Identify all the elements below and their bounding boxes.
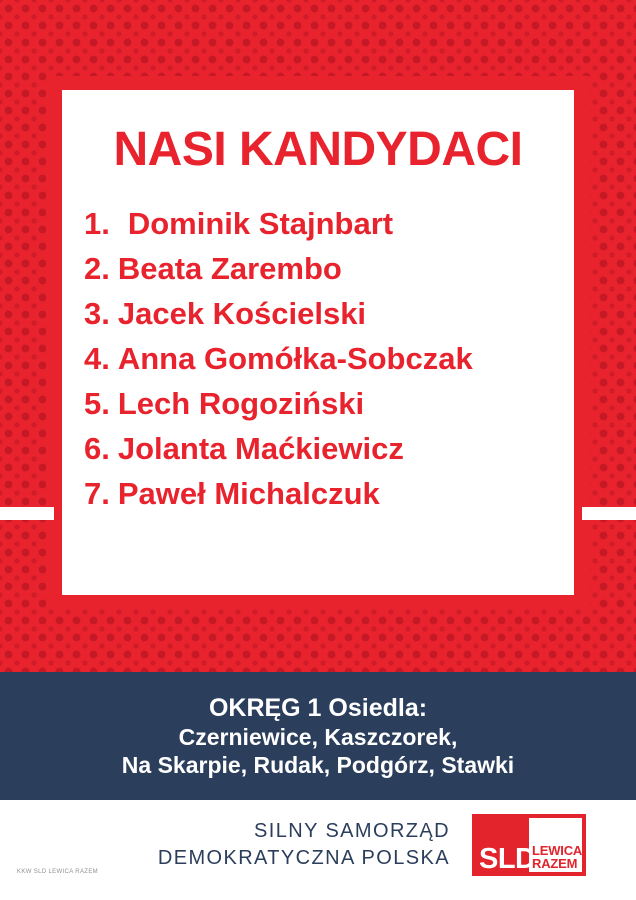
candidate-item: 5. Lech Rogoziński [84, 388, 564, 433]
candidate-number: 3. [84, 298, 110, 329]
candidate-item: 6. Jolanta Maćkiewicz [84, 433, 564, 478]
candidate-item: 7. Paweł Michalczuk [84, 478, 564, 523]
candidate-item: 3. Jacek Kościelski [84, 298, 564, 343]
candidate-number: 2. [84, 253, 110, 284]
district-title: OKRĘG 1 Osiedla: [209, 693, 427, 724]
poster-footer: SILNY SAMORZĄD DEMOKRATYCZNA POLSKA KKW … [0, 800, 636, 900]
candidate-list: 1. Dominik Stajnbart 2. Beata Zarembo 3.… [84, 208, 564, 523]
candidate-name: Paweł Michalczuk [118, 478, 380, 509]
campaign-slogan: SILNY SAMORZĄD DEMOKRATYCZNA POLSKA [140, 818, 450, 872]
candidate-number: 7. [84, 478, 110, 509]
candidate-number: 6. [84, 433, 110, 464]
campaign-poster: NASI KANDYDACI 1. Dominik Stajnbart 2. B… [0, 0, 636, 900]
candidate-name: Dominik Stajnbart [128, 208, 393, 239]
candidate-name: Beata Zarembo [118, 253, 342, 284]
candidate-name: Anna Gomółka-Sobczak [118, 343, 473, 374]
district-banner: OKRĘG 1 Osiedla: Czerniewice, Kaszczorek… [0, 672, 636, 800]
slogan-line-2: DEMOKRATYCZNA POLSKA [140, 845, 450, 872]
logo-red-block: SLD [472, 814, 529, 876]
poster-headline: NASI KANDYDACI [62, 126, 574, 174]
candidate-number: 4. [84, 343, 110, 374]
logo-lewica-razem-text: LEWICA RAZEM [532, 844, 582, 871]
slogan-line-1: SILNY SAMORZĄD [140, 818, 450, 845]
logo-razem-text: RAZEM [532, 857, 582, 870]
district-neighborhoods-line-2: Na Skarpie, Rudak, Podgórz, Stawki [122, 751, 514, 779]
candidate-number: 5. [84, 388, 110, 419]
logo-sld-text: SLD [479, 845, 536, 874]
left-edge-notch [0, 507, 54, 520]
candidate-name: Lech Rogoziński [118, 388, 364, 419]
logo-lewica-text: LEWICA [532, 844, 582, 857]
candidates-card: NASI KANDYDACI 1. Dominik Stajnbart 2. B… [62, 90, 574, 595]
candidate-name: Jacek Kościelski [118, 298, 366, 329]
candidate-name: Jolanta Maćkiewicz [118, 433, 404, 464]
district-neighborhoods-line-1: Czerniewice, Kaszczorek, [179, 723, 458, 751]
sld-lewica-razem-logo: SLD LEWICA RAZEM [472, 814, 586, 876]
logo-white-block: LEWICA RAZEM [529, 818, 582, 872]
candidate-number: 1. [84, 208, 110, 239]
right-edge-notch [582, 507, 636, 520]
candidate-item: 4. Anna Gomółka-Sobczak [84, 343, 564, 388]
candidate-item: 1. Dominik Stajnbart [84, 208, 564, 253]
candidate-item: 2. Beata Zarembo [84, 253, 564, 298]
committee-disclaimer: KKW SLD LEWICA RAZEM [17, 869, 98, 875]
